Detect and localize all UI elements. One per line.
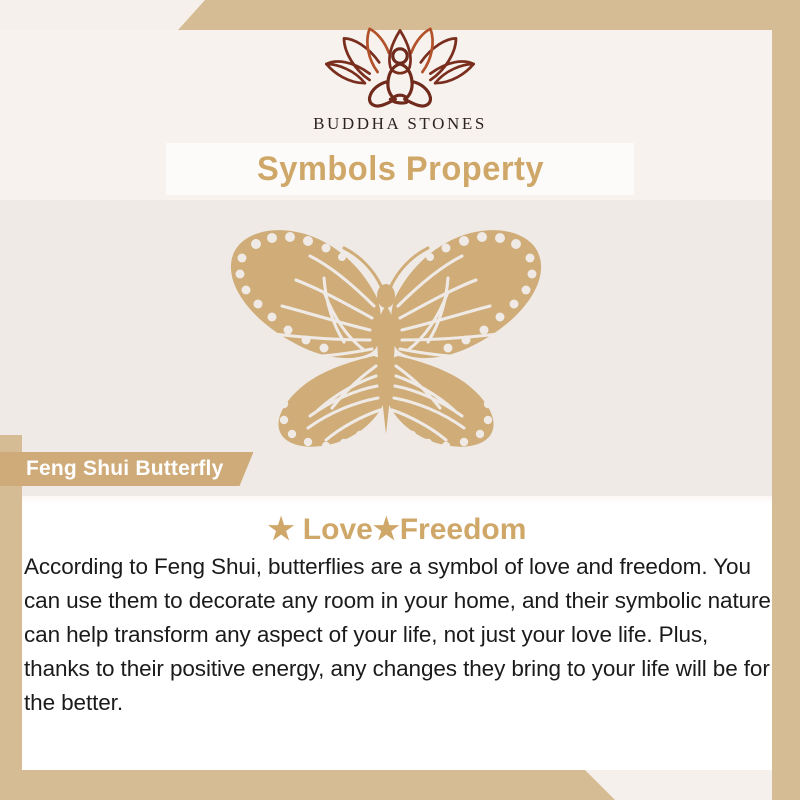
panel-top-fade <box>22 496 772 504</box>
feng-shui-ribbon: Feng Shui Butterfly <box>0 452 253 486</box>
lotus-meditation-icon <box>320 24 480 112</box>
content-paragraph: According to Feng Shui, butterflies are … <box>24 550 780 720</box>
content-subheading: ★ Love★Freedom <box>22 512 772 547</box>
brand-logo: BUDDHA STONES <box>0 24 800 134</box>
brand-wordmark: BUDDHA STONES <box>0 114 800 134</box>
frame-left-band <box>0 435 22 800</box>
poster-root: BUDDHA STONES Symbols Property <box>0 0 800 800</box>
page-title: Symbols Property <box>256 150 543 189</box>
title-banner: Symbols Property <box>166 143 634 195</box>
ribbon-label: Feng Shui Butterfly <box>26 457 223 481</box>
frame-bottom-band <box>0 770 800 800</box>
